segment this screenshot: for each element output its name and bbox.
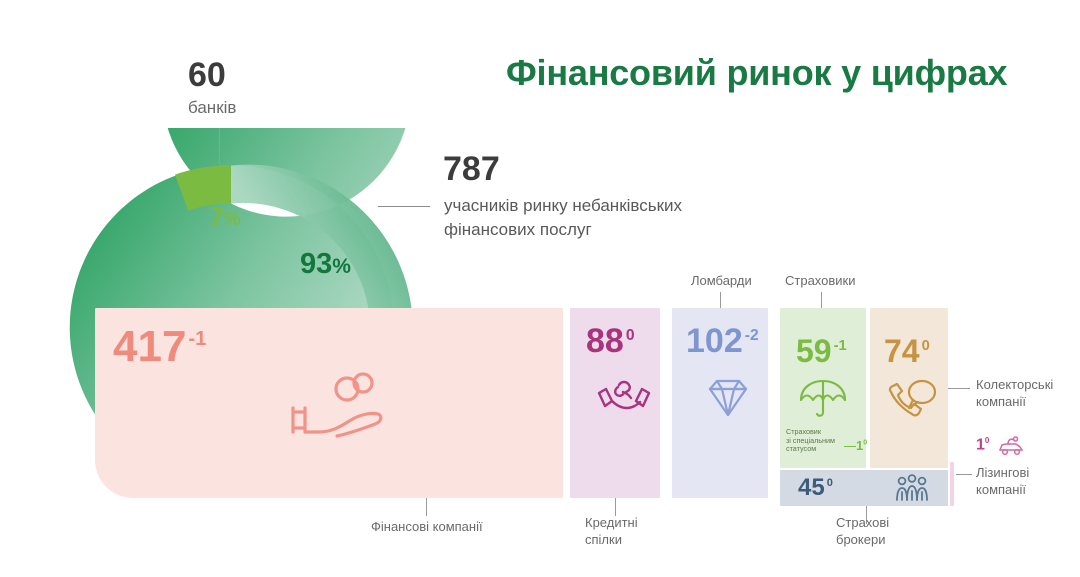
credit-unions-value: 880 xyxy=(586,322,635,361)
nonbank-count: 787 xyxy=(443,150,500,189)
pawnshops-number: 102 xyxy=(686,322,743,360)
credit-unions-label: Кредитні спілки xyxy=(585,514,655,548)
phone-chat-icon xyxy=(886,378,938,420)
insurance-brokers-label-line2: брокери xyxy=(836,532,885,547)
leasing-companies-value: 10 xyxy=(976,436,989,454)
nonbank-label: учасників ринку небанківських фінансових… xyxy=(444,194,774,242)
special-status-note-line3: статусом xyxy=(786,444,816,453)
percent-banks: 7% xyxy=(210,203,241,232)
car-icon xyxy=(998,436,1024,456)
collection-agencies-number: 74 xyxy=(884,333,920,369)
insurance-brokers-number: 45 xyxy=(798,474,825,501)
percent-banks-value: 7 xyxy=(210,203,224,231)
financial-companies-leader-line xyxy=(426,498,427,516)
financial-companies-label: Фінансові компанії xyxy=(371,518,483,535)
banks-label: банків xyxy=(188,98,236,118)
nonbank-label-line1: учасників ринку небанківських xyxy=(444,196,682,215)
diamond-icon xyxy=(700,377,756,421)
page-title: Фінансовий ринок у цифрах xyxy=(506,52,1007,94)
pawnshops-delta: -2 xyxy=(745,327,759,344)
special-status-dash xyxy=(844,446,856,447)
collection-agencies-label: Колекторські компанії xyxy=(976,376,1076,410)
credit-unions-number: 88 xyxy=(586,322,624,360)
pawnshops-label: Ломбарди xyxy=(691,272,752,289)
nonbank-label-line2: фінансових послуг xyxy=(444,220,592,239)
infographic-canvas: Фінансовий ринок у цифрах xyxy=(0,0,1080,577)
special-status-value: 10 xyxy=(856,438,867,453)
financial-companies-value: 417-1 xyxy=(113,322,206,372)
nonbank-leader-line xyxy=(378,206,430,207)
insurers-value: 59-1 xyxy=(796,333,847,370)
insurance-brokers-value: 450 xyxy=(798,474,833,502)
pawnshops-value: 102-2 xyxy=(686,322,759,361)
people-icon xyxy=(893,474,931,504)
insurers-label: Страховики xyxy=(785,272,856,289)
insurers-number: 59 xyxy=(796,333,832,369)
insurance-brokers-label: Страхові брокери xyxy=(836,514,916,548)
collection-agencies-label-line1: Колекторські xyxy=(976,377,1053,392)
banks-count: 60 xyxy=(188,56,226,95)
insurance-brokers-label-line1: Страхові xyxy=(836,515,889,530)
hand-coins-icon xyxy=(285,370,395,450)
leasing-companies-number: 1 xyxy=(976,436,985,453)
handshake-icon xyxy=(596,375,652,423)
leasing-companies-label-line2: компанії xyxy=(976,482,1026,497)
banks-leader-line xyxy=(219,128,220,164)
insurance-brokers-delta: 0 xyxy=(827,477,833,489)
percent-nonbank-unit: % xyxy=(332,255,351,278)
percent-nonbank: 93% xyxy=(300,248,351,281)
leasing-companies-label-line1: Лізингові xyxy=(976,465,1029,480)
block-leasing-companies[interactable] xyxy=(950,462,954,506)
leasing-companies-label: Лізингові компанії xyxy=(976,464,1076,498)
percent-nonbank-value: 93 xyxy=(300,248,332,280)
percent-banks-unit: % xyxy=(224,209,241,230)
insurers-leader-line xyxy=(821,292,822,308)
financial-companies-delta: -1 xyxy=(188,328,206,350)
special-status-insurer-note: Страховик зі спеціальним статусом xyxy=(786,428,864,454)
pawnshops-leader-line xyxy=(720,292,721,308)
umbrella-icon xyxy=(798,378,848,420)
collection-agencies-leader-line xyxy=(948,388,970,389)
collection-agencies-label-line2: компанії xyxy=(976,394,1026,409)
credit-unions-label-line1: Кредитні xyxy=(585,515,638,530)
leasing-companies-leader-line xyxy=(956,474,972,475)
credit-unions-delta: 0 xyxy=(626,327,635,344)
insurers-delta: -1 xyxy=(834,338,847,354)
financial-companies-number: 417 xyxy=(113,322,186,371)
collection-agencies-value: 740 xyxy=(884,333,930,370)
special-status-delta: 0 xyxy=(863,440,867,447)
collection-agencies-delta: 0 xyxy=(922,338,930,354)
credit-unions-label-line2: спілки xyxy=(585,532,622,547)
leasing-companies-delta: 0 xyxy=(985,436,989,445)
